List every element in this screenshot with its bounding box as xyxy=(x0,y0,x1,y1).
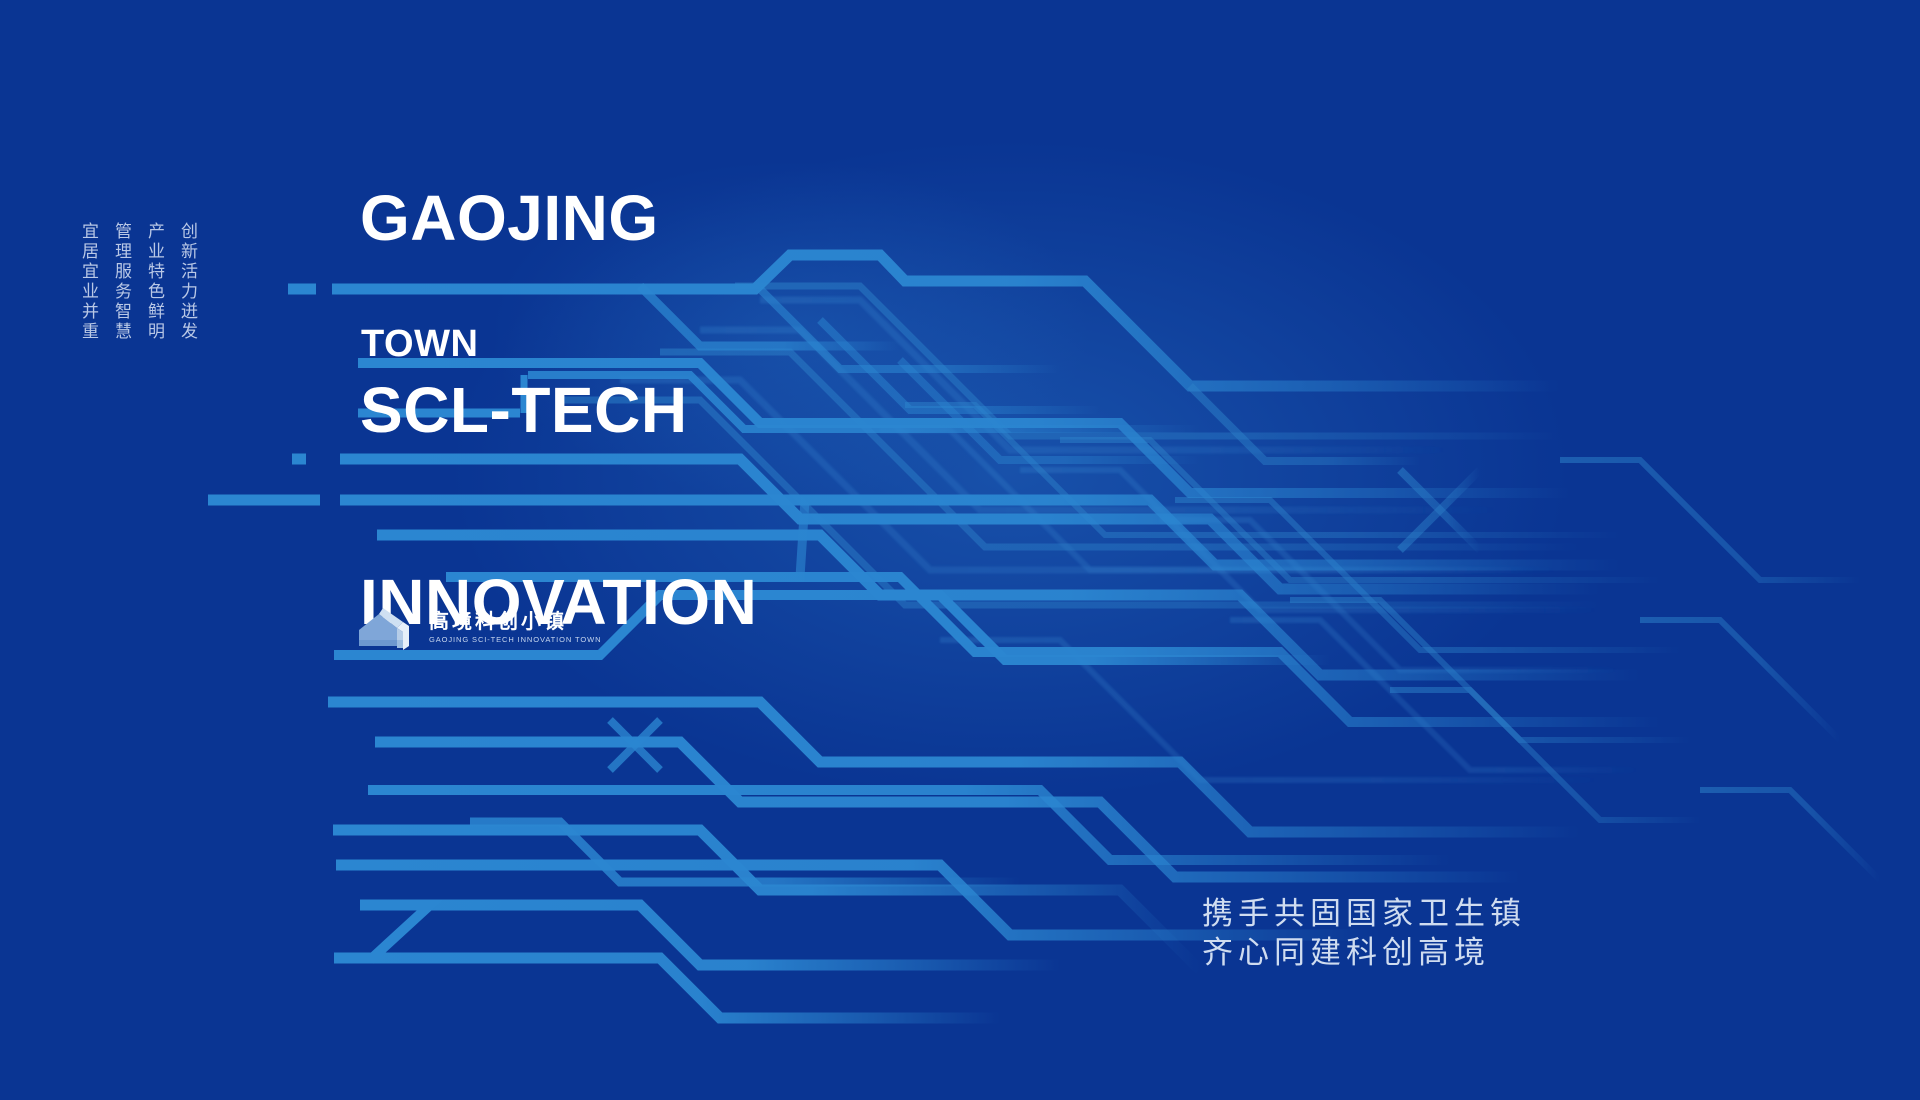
bottom-slogan-line-1: 携手共固国家卫生镇 xyxy=(1202,894,1526,933)
page-title: GAOJING SCL-TECH INNOVATION xyxy=(360,58,757,762)
vertical-slogan-column-4: 宜居宜业并重 xyxy=(78,222,98,422)
logo-wordmark: 高境科创小镇 GAOJING SCI-TECH INNOVATION TOWN xyxy=(429,611,601,645)
logo-name-cn: 高境科创小镇 xyxy=(429,611,601,633)
bottom-slogan-line-2: 齐心同建科创高境 xyxy=(1202,933,1526,972)
headline-line-1: GAOJING xyxy=(360,186,757,250)
headline-line-2: SCL-TECH xyxy=(360,378,757,442)
poster-canvas: GAOJING SCL-TECH INNOVATION TOWN 创新活力迸发 … xyxy=(0,0,1920,1100)
circuit-background-graphic xyxy=(0,0,1920,1100)
vertical-slogan: 创新活力迸发 产业特色鲜明 管理服务智慧 宜居宜业并重 xyxy=(78,222,197,422)
vertical-slogan-column-3: 管理服务智慧 xyxy=(111,222,131,422)
vertical-slogan-column-2: 产业特色鲜明 xyxy=(144,222,164,422)
headline-line-4: TOWN xyxy=(361,325,478,363)
vertical-slogan-column-1: 创新活力迸发 xyxy=(177,222,197,422)
brand-logo: 高境科创小镇 GAOJING SCI-TECH INNOVATION TOWN xyxy=(357,606,601,650)
bottom-slogan: 携手共固国家卫生镇 齐心同建科创高境 xyxy=(1202,894,1526,972)
logo-name-en: GAOJING SCI-TECH INNOVATION TOWN xyxy=(429,634,601,645)
house-building-icon xyxy=(357,606,419,650)
